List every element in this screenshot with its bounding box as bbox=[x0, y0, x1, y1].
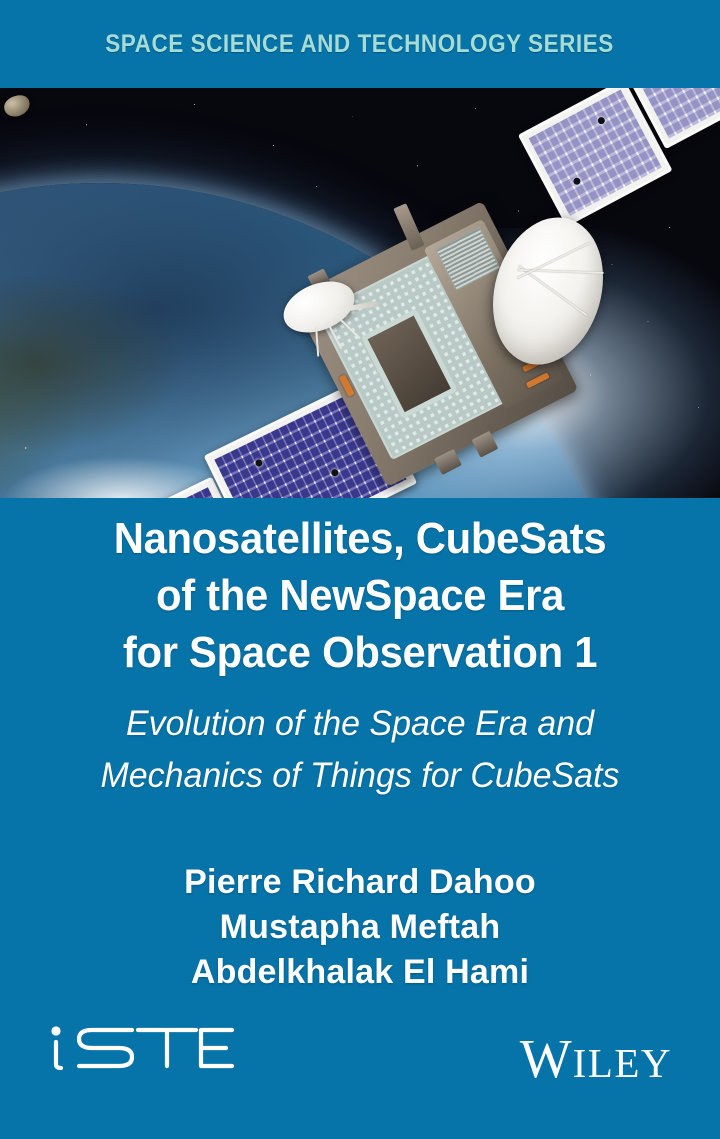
satellite bbox=[0, 88, 720, 498]
bus-thruster bbox=[434, 449, 462, 475]
author-name-2: Mustapha Meftah bbox=[0, 905, 720, 950]
author-name-1: Pierre Richard Dahoo bbox=[0, 860, 720, 905]
dish-reflector bbox=[476, 204, 619, 377]
book-authors: Pierre Richard Dahoo Mustapha Meftah Abd… bbox=[0, 860, 720, 995]
book-cover: SPACE SCIENCE AND TECHNOLOGY SERIES bbox=[0, 0, 720, 1139]
subtitle-line-1: Evolution of the Space Era and bbox=[11, 698, 709, 750]
title-line-2: of the NewSpace Era bbox=[18, 567, 702, 624]
dish-antenna-large bbox=[476, 204, 619, 377]
book-subtitle: Evolution of the Space Era and Mechanics… bbox=[0, 698, 720, 802]
title-line-1: Nanosatellites, CubeSats bbox=[18, 510, 702, 567]
wiley-rest: ILEY bbox=[573, 1040, 672, 1086]
series-banner: SPACE SCIENCE AND TECHNOLOGY SERIES bbox=[0, 0, 720, 88]
bus-thruster bbox=[472, 431, 499, 458]
bus-instrument-window bbox=[361, 309, 458, 419]
debris-object bbox=[2, 92, 33, 119]
wiley-logo: WILEY bbox=[520, 1027, 672, 1090]
author-name-3: Abdelkhalak El Hami bbox=[0, 950, 720, 995]
wiley-initial: W bbox=[520, 1028, 573, 1089]
series-label: SPACE SCIENCE AND TECHNOLOGY SERIES bbox=[106, 30, 615, 59]
iste-logo bbox=[46, 1020, 236, 1085]
solar-cells bbox=[529, 90, 662, 217]
title-line-3: for Space Observation 1 bbox=[18, 624, 702, 681]
publisher-footer: WILEY bbox=[0, 1019, 720, 1139]
solar-array-right bbox=[507, 88, 720, 230]
subtitle-line-2: Mechanics of Things for CubeSats bbox=[11, 750, 709, 802]
book-title: Nanosatellites, CubeSats of the NewSpace… bbox=[0, 510, 720, 681]
cover-artwork bbox=[0, 88, 720, 498]
